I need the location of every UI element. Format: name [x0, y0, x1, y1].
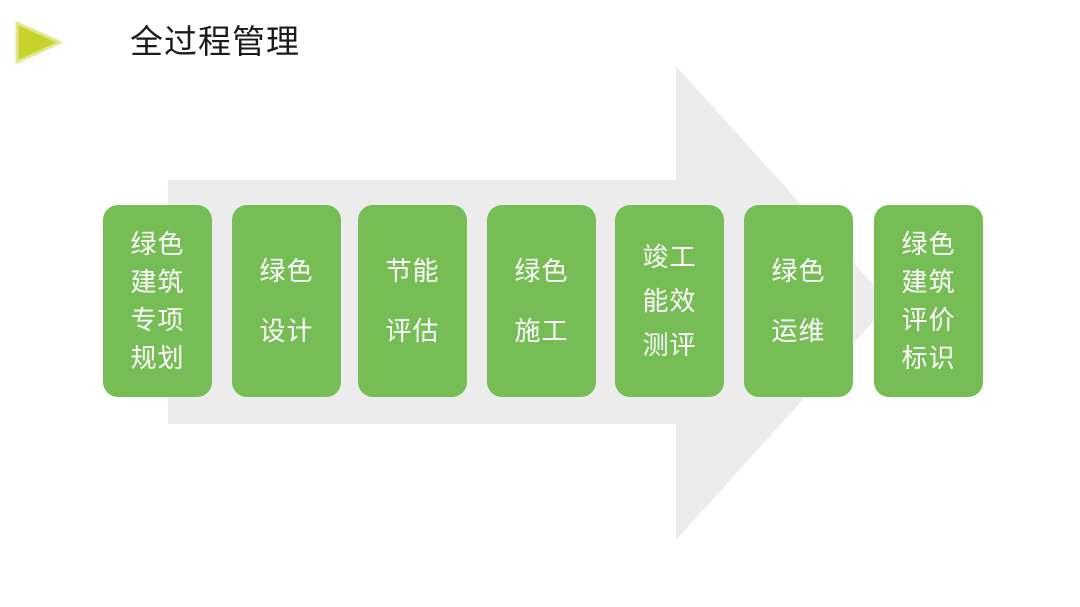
stage-label-7: 绿色 建筑 评价 标识 — [901, 225, 955, 377]
stage-line: 专项 — [130, 301, 184, 339]
stage-line: 运维 — [771, 301, 825, 361]
stage-line: 测评 — [642, 323, 696, 367]
stage-line: 绿色 — [259, 241, 313, 301]
stage-label-1: 绿色 建筑 专项 规划 — [130, 225, 184, 377]
stage-line: 节能 — [385, 241, 439, 301]
stage-box-4[interactable]: 绿色 施工 — [487, 205, 596, 397]
stage-line: 建筑 — [901, 263, 955, 301]
slide-canvas: 全过程管理 绿色 建筑 专项 规划 绿色 设计 节能 评估 — [0, 0, 1080, 607]
stage-line: 绿色 — [130, 225, 184, 263]
stage-line: 设计 — [259, 301, 313, 361]
stage-box-2[interactable]: 绿色 设计 — [232, 205, 341, 397]
stage-label-2: 绿色 设计 — [259, 241, 313, 361]
stage-line: 绿色 — [901, 225, 955, 263]
process-stage-row: 绿色 建筑 专项 规划 绿色 设计 节能 评估 绿色 施工 — [0, 0, 1080, 607]
stage-label-3: 节能 评估 — [385, 241, 439, 361]
stage-line: 评价 — [901, 301, 955, 339]
stage-line: 评估 — [385, 301, 439, 361]
stage-box-3[interactable]: 节能 评估 — [358, 205, 467, 397]
stage-line: 竣工 — [642, 235, 696, 279]
stage-line: 绿色 — [771, 241, 825, 301]
stage-box-5[interactable]: 竣工 能效 测评 — [615, 205, 724, 397]
stage-line: 能效 — [642, 279, 696, 323]
stage-label-6: 绿色 运维 — [771, 241, 825, 361]
stage-line: 建筑 — [130, 263, 184, 301]
stage-box-7[interactable]: 绿色 建筑 评价 标识 — [874, 205, 983, 397]
stage-box-1[interactable]: 绿色 建筑 专项 规划 — [103, 205, 212, 397]
stage-label-5: 竣工 能效 测评 — [642, 235, 696, 367]
stage-line: 绿色 — [514, 241, 568, 301]
stage-label-4: 绿色 施工 — [514, 241, 568, 361]
stage-line: 标识 — [901, 339, 955, 377]
stage-box-6[interactable]: 绿色 运维 — [744, 205, 853, 397]
stage-line: 规划 — [130, 339, 184, 377]
stage-line: 施工 — [514, 301, 568, 361]
